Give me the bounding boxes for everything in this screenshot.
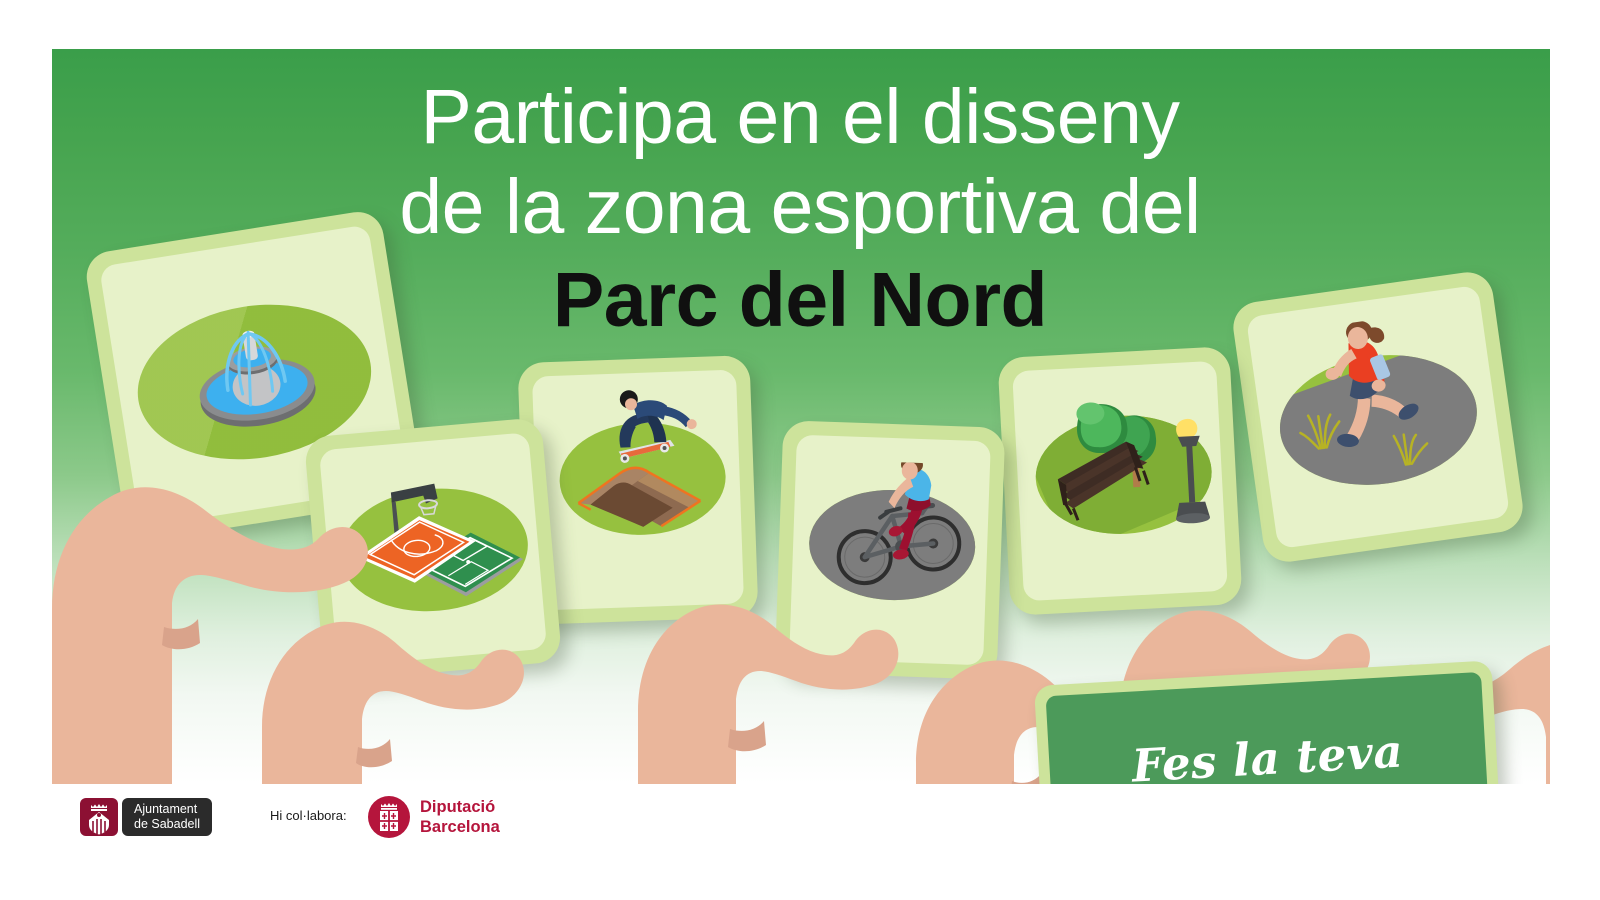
ajuntament-line-1: Ajuntament [134, 802, 200, 817]
diputacio-line-2: Barcelona [420, 817, 500, 837]
sabadell-coat-of-arms-icon [80, 798, 118, 836]
diputacio-line-1: Diputació [420, 797, 500, 817]
diputacio-name-box: Diputació Barcelona [420, 797, 500, 837]
poster-canvas: Participa en el disseny de la zona espor… [0, 0, 1600, 900]
hand-skate [192, 489, 532, 784]
runner-icon [1266, 307, 1488, 503]
footer-bar: Ajuntament de Sabadell Hi col·labora: [0, 784, 1600, 900]
ajuntament-line-2: de Sabadell [134, 817, 200, 832]
ajuntament-de-sabadell-logo[interactable]: Ajuntament de Sabadell [80, 798, 212, 836]
diputacio-barcelona-seal-icon [368, 796, 410, 838]
ajuntament-name-box: Ajuntament de Sabadell [122, 798, 212, 836]
collaborator-label: Hi col·labora: [270, 808, 347, 823]
diputacio-barcelona-logo[interactable]: Diputació Barcelona [368, 796, 500, 838]
